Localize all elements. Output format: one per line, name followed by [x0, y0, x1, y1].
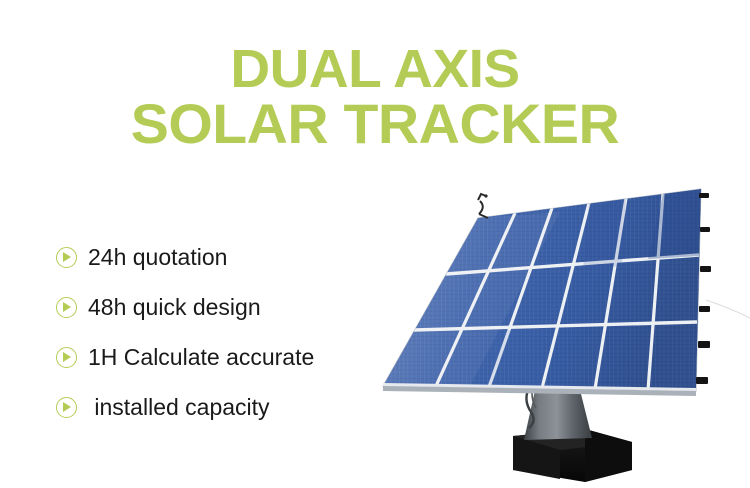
feature-label: 24h quotation	[88, 246, 227, 269]
solar-tracker-banner: DUAL AXIS SOLAR TRACKER 24h quotation 48…	[0, 0, 750, 488]
circle-arrow-right-icon	[56, 297, 77, 318]
sun-sensor-bracket	[478, 194, 488, 218]
solar-panel-array	[383, 189, 701, 396]
circle-arrow-right-icon	[56, 247, 77, 268]
circle-arrow-right-icon	[56, 347, 77, 368]
list-item: 1H Calculate accurate	[56, 332, 314, 382]
list-item: installed capacity	[56, 382, 314, 432]
feature-label: installed capacity	[88, 396, 270, 419]
list-item: 24h quotation	[56, 232, 314, 282]
feature-list: 24h quotation 48h quick design 1H Calcul…	[56, 232, 314, 432]
feature-label: 1H Calculate accurate	[88, 346, 314, 369]
list-item: 48h quick design	[56, 282, 314, 332]
feature-label: 48h quick design	[88, 296, 261, 319]
circle-arrow-right-icon	[56, 397, 77, 418]
overhead-wire	[706, 300, 750, 318]
